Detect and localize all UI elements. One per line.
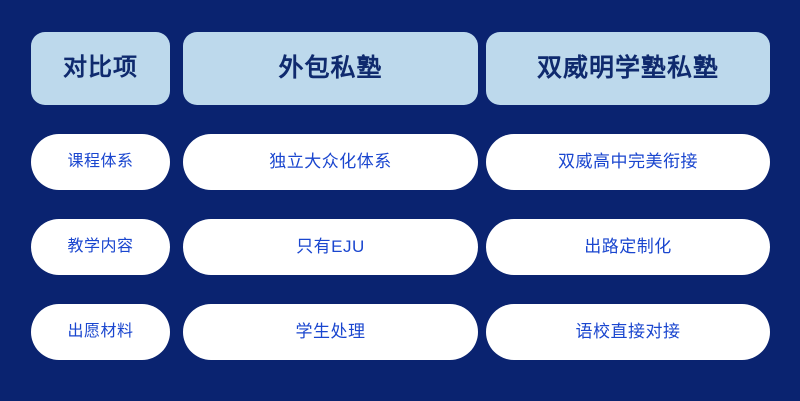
column-header-outsourced: 外包私塾 bbox=[183, 32, 478, 105]
row-label-cell: 教学内容 bbox=[31, 219, 170, 275]
column-header-shuangwei: 双威明学塾私塾 bbox=[486, 32, 770, 105]
row-value-shuangwei: 双威高中完美衔接 bbox=[486, 134, 770, 190]
column-header-item: 对比项 bbox=[31, 32, 170, 105]
row-value-shuangwei: 语校直接对接 bbox=[486, 304, 770, 360]
row-value-outsourced: 只有EJU bbox=[183, 219, 478, 275]
table-header-row: 对比项 外包私塾 双威明学塾私塾 bbox=[31, 32, 770, 105]
row-label-cell: 课程体系 bbox=[31, 134, 170, 190]
row-value-outsourced: 独立大众化体系 bbox=[183, 134, 478, 190]
row-value-shuangwei: 出路定制化 bbox=[486, 219, 770, 275]
comparison-table: 对比项 外包私塾 双威明学塾私塾 课程体系 独立大众化体系 双威高中完美衔接 教… bbox=[0, 0, 800, 401]
row-label-cell: 出愿材料 bbox=[31, 304, 170, 360]
table-row: 出愿材料 学生处理 语校直接对接 bbox=[31, 304, 770, 360]
table-row: 教学内容 只有EJU 出路定制化 bbox=[31, 219, 770, 275]
row-value-outsourced: 学生处理 bbox=[183, 304, 478, 360]
table-row: 课程体系 独立大众化体系 双威高中完美衔接 bbox=[31, 134, 770, 190]
